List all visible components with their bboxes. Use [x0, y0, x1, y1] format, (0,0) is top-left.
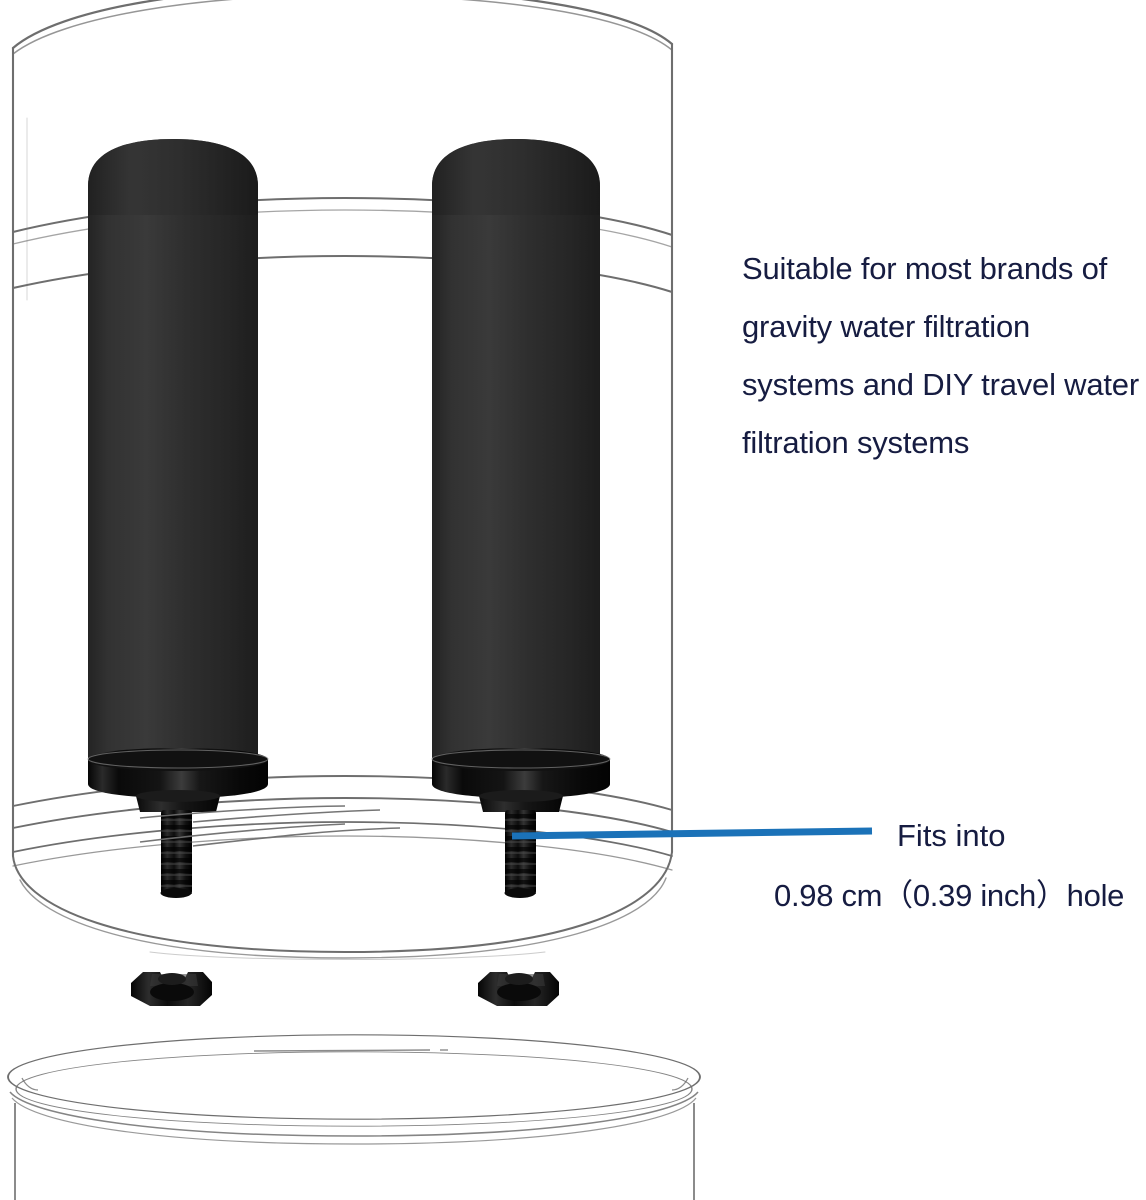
lower-tank-outline	[8, 1035, 700, 1200]
callout-fits-into-title: Fits into	[897, 820, 1006, 851]
callout-suitable-text: Suitable for most brands of gravity wate…	[742, 240, 1146, 472]
filter-stem-left	[161, 810, 193, 898]
filter-cap-right	[432, 748, 610, 812]
wing-nut-left	[131, 972, 212, 1006]
filter-cartridge-left	[88, 139, 268, 898]
product-diagram	[0, 0, 1146, 1200]
infographic-canvas: Suitable for most brands of gravity wate…	[0, 0, 1146, 1200]
filter-stem-right	[505, 810, 537, 898]
callout-fits-into-detail: 0.98 cm（0.39 inch）hole	[774, 880, 1124, 911]
wing-nut-right	[478, 972, 559, 1006]
filter-cartridge-right	[432, 139, 610, 898]
filter-cap-left	[88, 748, 268, 812]
leader-line-fits-into	[512, 831, 872, 836]
